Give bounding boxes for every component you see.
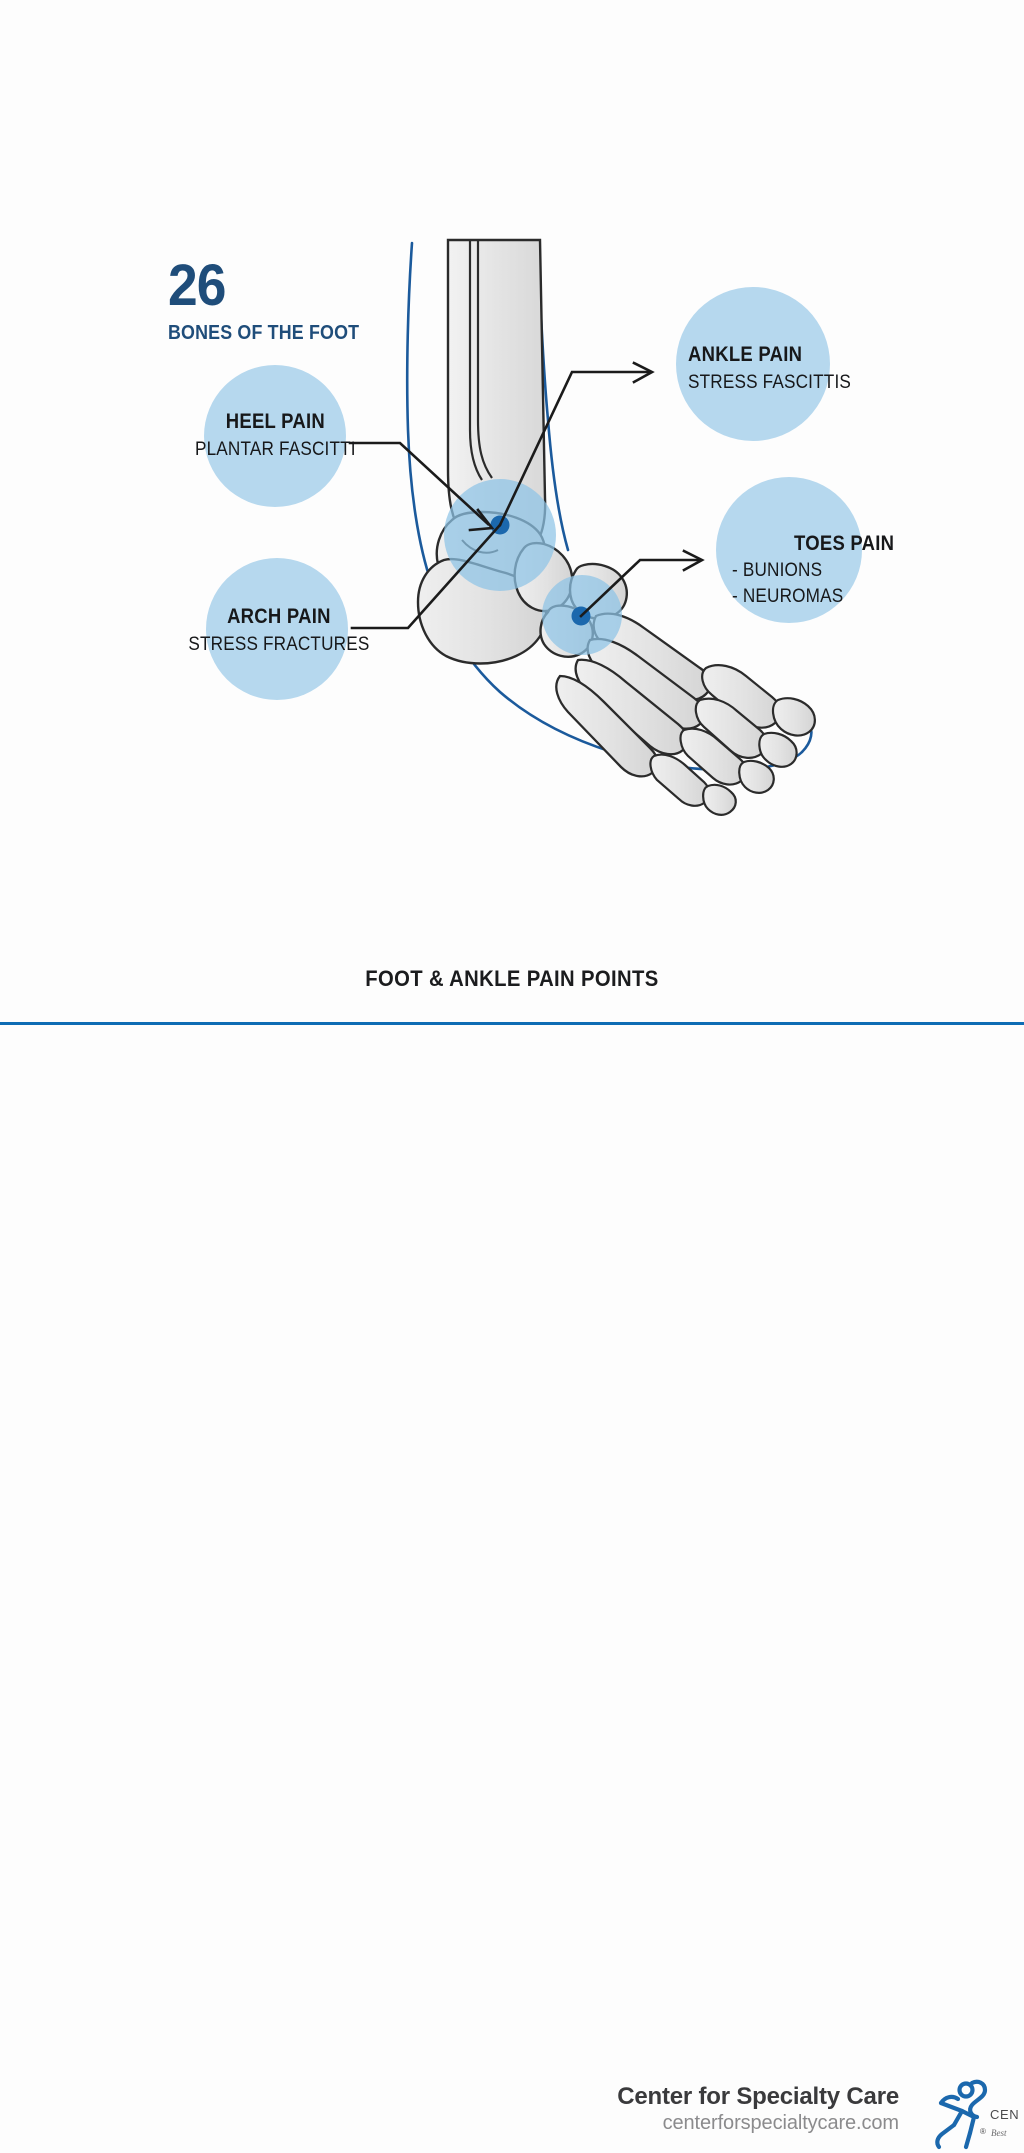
leader-lines: [350, 363, 702, 628]
footer: Center for Specialty Care centerforspeci…: [0, 1025, 1024, 1154]
logo-wordmark: CEN: [990, 2107, 1019, 2122]
brand-url[interactable]: centerforspecialtycare.com: [617, 2111, 899, 2135]
metatarsal-bones: [556, 614, 711, 777]
diagram-caption: FOOT & ANKLE PAIN POINTS: [0, 966, 1024, 992]
ankle-pain-zone: [444, 479, 556, 591]
stat-caption: BONES OF THE FOOT: [168, 321, 368, 345]
pain-zones: [444, 479, 622, 655]
diagram-caption-text: FOOT & ANKLE PAIN POINTS: [365, 966, 658, 992]
ankle-pain-dot: [491, 516, 510, 535]
toes-pain-zone: [542, 575, 622, 655]
midfoot-bones: [515, 543, 627, 657]
leg-bones: [448, 240, 545, 557]
hindfoot-bones: [418, 512, 546, 664]
foot-anatomy-illustration: [0, 0, 1024, 1040]
callout-bubble-heel[interactable]: [204, 365, 346, 507]
callout-bubble-toes[interactable]: [716, 477, 862, 623]
callout-bubble-arch[interactable]: [206, 558, 348, 700]
stat-number: 26: [168, 258, 380, 313]
brand-name: Center for Specialty Care: [617, 2083, 899, 2111]
callout-bubble-ankle[interactable]: [676, 287, 830, 441]
infographic-root: 26 BONES OF THE FOOT HEEL PAIN PLANTAR F…: [0, 0, 1024, 1154]
stat-block: 26 BONES OF THE FOOT: [168, 258, 398, 345]
logo[interactable]: CEN ® Best: [928, 2077, 1024, 2153]
phalanx-bones: [650, 665, 814, 815]
toes-pain-dot: [572, 607, 591, 626]
logo-tagline: Best: [991, 2128, 1007, 2138]
logo-registered-mark: ®: [980, 2127, 986, 2136]
brand-block: Center for Specialty Care centerforspeci…: [617, 2083, 899, 2135]
